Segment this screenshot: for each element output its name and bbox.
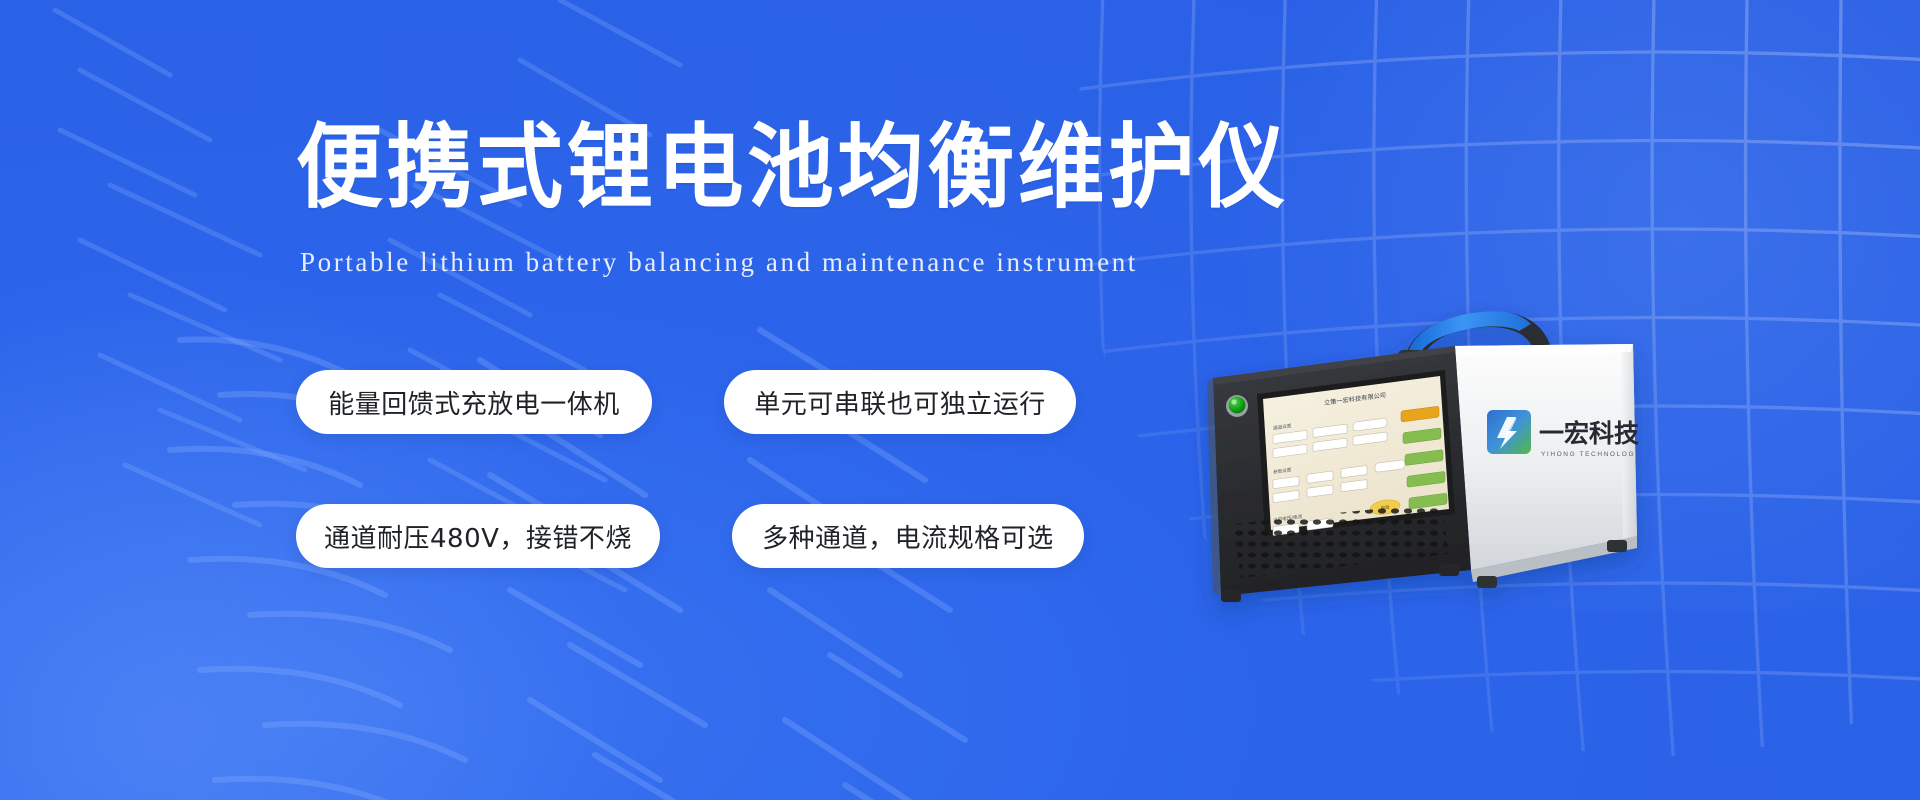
feature-pill-row-1: 能量回馈式充放电一体机 单元可串联也可独立运行 bbox=[296, 370, 1126, 434]
page-subtitle: Portable lithium battery balancing and m… bbox=[300, 248, 1138, 278]
power-button[interactable] bbox=[1226, 395, 1248, 417]
brand-pinyin-text: YIHONG TECHNOLOGY bbox=[1541, 451, 1641, 458]
page-title: 便携式锂电池均衡维护仪 bbox=[296, 122, 1289, 214]
feature-pill-3[interactable]: 通道耐压480V，接错不烧 bbox=[296, 504, 660, 568]
device-body bbox=[1455, 344, 1637, 588]
product-device-image: 一宏科技 YIHONG TECHNOLOGY bbox=[1155, 286, 1665, 646]
feature-pill-4[interactable]: 多种通道，电流规格可选 bbox=[732, 504, 1084, 568]
product-banner: 便携式锂电池均衡维护仪 Portable lithium battery bal… bbox=[0, 0, 1920, 800]
banner-content: 便携式锂电池均衡维护仪 Portable lithium battery bal… bbox=[0, 0, 1920, 800]
feature-pill-1[interactable]: 能量回馈式充放电一体机 bbox=[296, 370, 652, 434]
feature-pill-2[interactable]: 单元可串联也可独立运行 bbox=[724, 370, 1076, 434]
feature-pill-row-2: 通道耐压480V，接错不烧 多种通道，电流规格可选 bbox=[296, 504, 1126, 568]
feature-pill-list: 能量回馈式充放电一体机 单元可串联也可独立运行 通道耐压480V，接错不烧 多种… bbox=[296, 370, 1126, 638]
device-group: 一宏科技 YIHONG TECHNOLOGY bbox=[1207, 311, 1641, 602]
brand-name-text: 一宏科技 bbox=[1539, 419, 1639, 448]
